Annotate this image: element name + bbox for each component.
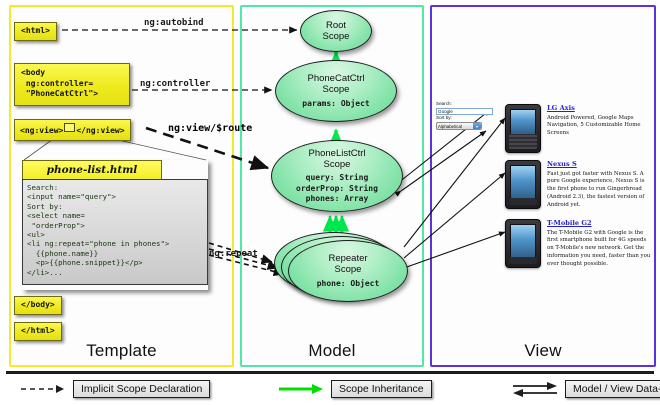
list-item[interactable]: Nexus S Fast just got faster with Nexus …: [505, 160, 653, 210]
legend-item-scope-inheritance: Scope Inheritance: [278, 380, 432, 398]
phone-thumbnail-icon: [505, 104, 541, 153]
phone-name-link[interactable]: LG Axis: [547, 104, 653, 113]
edge-label-ng-controller: ng:controller: [140, 79, 210, 89]
sort-select[interactable]: Alphabetical▾: [436, 122, 482, 130]
ngview-close-tag: </ng:view>: [76, 126, 124, 135]
double-arrow-icon: [512, 381, 558, 397]
search-label: Search:: [436, 101, 496, 108]
green-arrow-icon: [278, 383, 324, 395]
edge-label-ng-repeat: ng:repeat: [209, 249, 258, 259]
phone-name-link[interactable]: Nexus S: [547, 160, 653, 169]
sort-label: Sort by:: [436, 115, 496, 122]
scope-root: Root Scope: [300, 10, 372, 52]
scope-repeater-props: phone: Object: [317, 279, 380, 289]
legend-label-databinding: Model / View Data-binding: [565, 380, 660, 398]
legend-label-implicit: Implicit Scope Declaration: [73, 380, 210, 398]
scope-phonecatctrl: PhoneCatCtrl Scope params: Object: [275, 60, 397, 122]
template-file-code: Search: <input name="query"> Sort by: <s…: [22, 179, 208, 285]
code-box-body-open: <body ng:controller= "PhoneCatCtrl">: [14, 63, 130, 106]
phone-thumbnail-icon: [505, 219, 541, 268]
panel-template-label: Template: [11, 341, 232, 361]
view-search-form: Search: Google Sort by: Alphabetical▾: [436, 101, 496, 130]
phone-name-link[interactable]: T-Mobile G2: [547, 219, 653, 228]
scope-phonelistctrl-props: query: String orderProp: String phones: …: [296, 173, 378, 204]
panel-model-label: Model: [242, 341, 422, 361]
template-file-note: phone-list.html Search: <input name="que…: [22, 160, 208, 290]
phone-snippet: Fast just got faster with Nexus S. A pur…: [547, 171, 653, 210]
panel-view-label: View: [432, 341, 654, 361]
code-box-html-close: </html>: [14, 322, 62, 341]
code-box-ngview: <ng:view></ng:view>: [14, 119, 131, 141]
ngview-open-tag: <ng:view>: [20, 126, 63, 135]
phone-snippet: Android Powered, Google Maps Navigation,…: [547, 115, 653, 138]
legend-label-inheritance: Scope Inheritance: [331, 380, 432, 398]
edge-label-ng-view-route: ng:view/$route: [168, 123, 252, 134]
legend-item-implicit-scope-declaration: Implicit Scope Declaration: [20, 380, 210, 398]
template-file-name: phone-list.html: [22, 160, 162, 179]
scope-phonecatctrl-props: params: Object: [302, 99, 369, 109]
dashed-arrow-icon: [20, 383, 66, 395]
scope-phonecatctrl-name: PhoneCatCtrl Scope: [307, 73, 364, 95]
scope-repeater-name: Repeater Scope: [328, 253, 367, 275]
list-item[interactable]: T-Mobile G2 The T-Mobile G2 with Google …: [505, 219, 653, 269]
search-input[interactable]: Google: [436, 108, 493, 115]
chevron-down-icon: ▾: [473, 123, 481, 129]
phone-thumbnail-icon: [505, 160, 541, 209]
ngview-placeholder-icon: [64, 123, 75, 132]
code-box-html-open: <html>: [14, 22, 57, 41]
edge-label-ng-autobind: ng:autobind: [144, 18, 204, 28]
legend-item-model-view-data-binding: Model / View Data-binding: [512, 380, 660, 398]
sort-select-value: Alphabetical: [438, 124, 462, 129]
scope-phonelistctrl-name: PhoneListCtrl Scope: [308, 148, 365, 170]
legend: Implicit Scope Declaration Scope Inherit…: [0, 371, 660, 405]
scope-root-name: Root Scope: [323, 20, 350, 42]
list-item[interactable]: LG Axis Android Powered, Google Maps Nav…: [505, 104, 653, 153]
legend-divider: [6, 371, 654, 374]
scope-repeater: Repeater Scope phone: Object: [288, 240, 408, 302]
phone-snippet: The T-Mobile G2 with Google is the first…: [547, 230, 653, 269]
scope-phonelistctrl: PhoneListCtrl Scope query: String orderP…: [271, 140, 403, 212]
code-box-body-close: </body>: [14, 296, 62, 315]
diagram-canvas: Template Model View: [0, 0, 660, 405]
